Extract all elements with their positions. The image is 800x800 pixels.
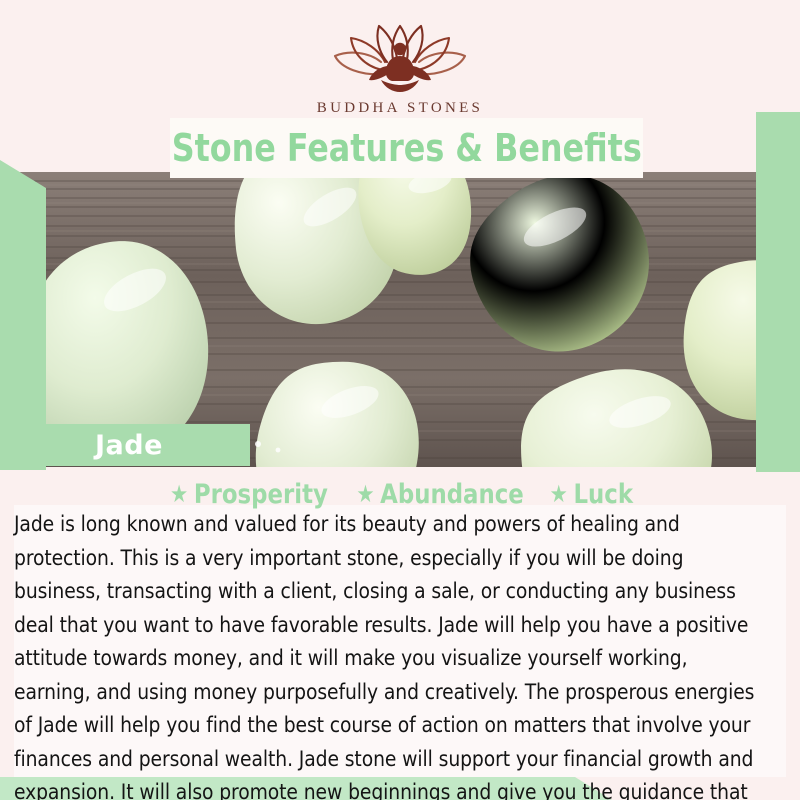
- stone-photo-graphic: [0, 172, 800, 467]
- infographic-page: BUDDHA STONES: [0, 0, 800, 800]
- benefit-label-2: Luck: [573, 481, 633, 508]
- description-text: Jade is long known and valued for its be…: [14, 508, 767, 800]
- benefit-item-0: ★ Prosperity: [170, 481, 328, 508]
- stone-photo: [0, 172, 800, 467]
- stone-name-label: Jade: [95, 432, 163, 459]
- stone-name-badge: Jade: [20, 424, 250, 466]
- brand-wordmark: BUDDHA STONES: [317, 100, 483, 117]
- page-title: Stone Features & Benefits: [171, 129, 641, 167]
- star-icon: ★: [170, 482, 188, 506]
- star-icon: ★: [549, 482, 567, 506]
- benefit-label-1: Abundance: [380, 481, 524, 508]
- brand-logo: BUDDHA STONES: [0, 22, 800, 117]
- benefit-item-2: ★ Luck: [549, 481, 632, 508]
- title-banner: Stone Features & Benefits: [170, 118, 643, 178]
- benefit-label-0: Prosperity: [194, 481, 328, 508]
- right-accent-bar: [756, 112, 800, 472]
- lotus-meditation-icon: [325, 22, 475, 94]
- star-icon: ★: [356, 482, 374, 506]
- benefits-row: ★ Prosperity ★ Abundance ★ Luck: [0, 478, 800, 510]
- benefit-item-1: ★ Abundance: [356, 481, 523, 508]
